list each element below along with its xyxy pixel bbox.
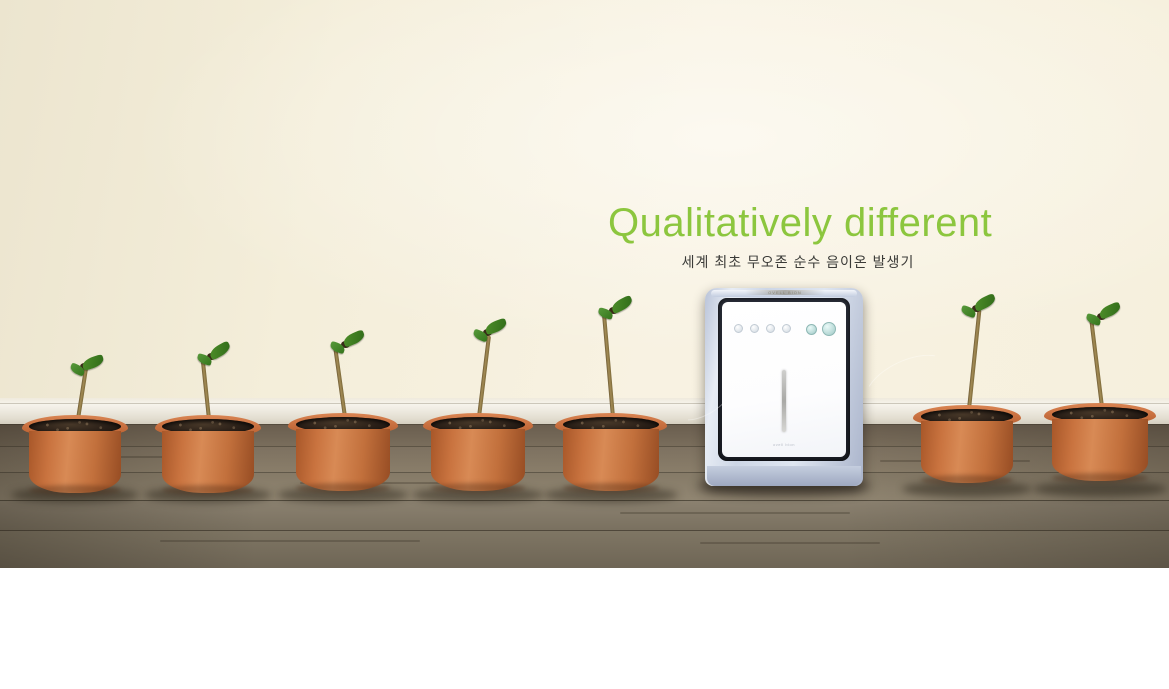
device-control-buttons[interactable] [806, 322, 836, 336]
device-top-brand-label: OVELL BION [745, 290, 825, 295]
plant-pot [555, 413, 667, 495]
plant-pot [155, 415, 261, 495]
hero-subheadline: 세계 최초 무오존 순수 음이온 발생기 [608, 252, 988, 272]
advertisement-page: OVELL BION ovell bion Qualitatively diff… [0, 0, 1169, 689]
device-bottom-brand-label: ovell bion [764, 442, 804, 449]
wall-background [0, 0, 1169, 405]
plant-pot [22, 415, 128, 495]
hero-headline: Qualitatively different [608, 203, 988, 243]
plant-pot [288, 413, 398, 495]
device-indicator-leds [734, 324, 791, 333]
hero-photo: OVELL BION ovell bion Qualitatively diff… [0, 0, 1169, 568]
footer-bar: OVELL 세계 최초 음이온 발생 기술 및 순수 음이온 발생기술 및 VO… [0, 568, 1169, 689]
plant-pot [913, 405, 1021, 489]
plant-pot [423, 413, 533, 495]
plant-pot [1044, 403, 1156, 489]
device-air-outlet-slot [782, 370, 786, 432]
